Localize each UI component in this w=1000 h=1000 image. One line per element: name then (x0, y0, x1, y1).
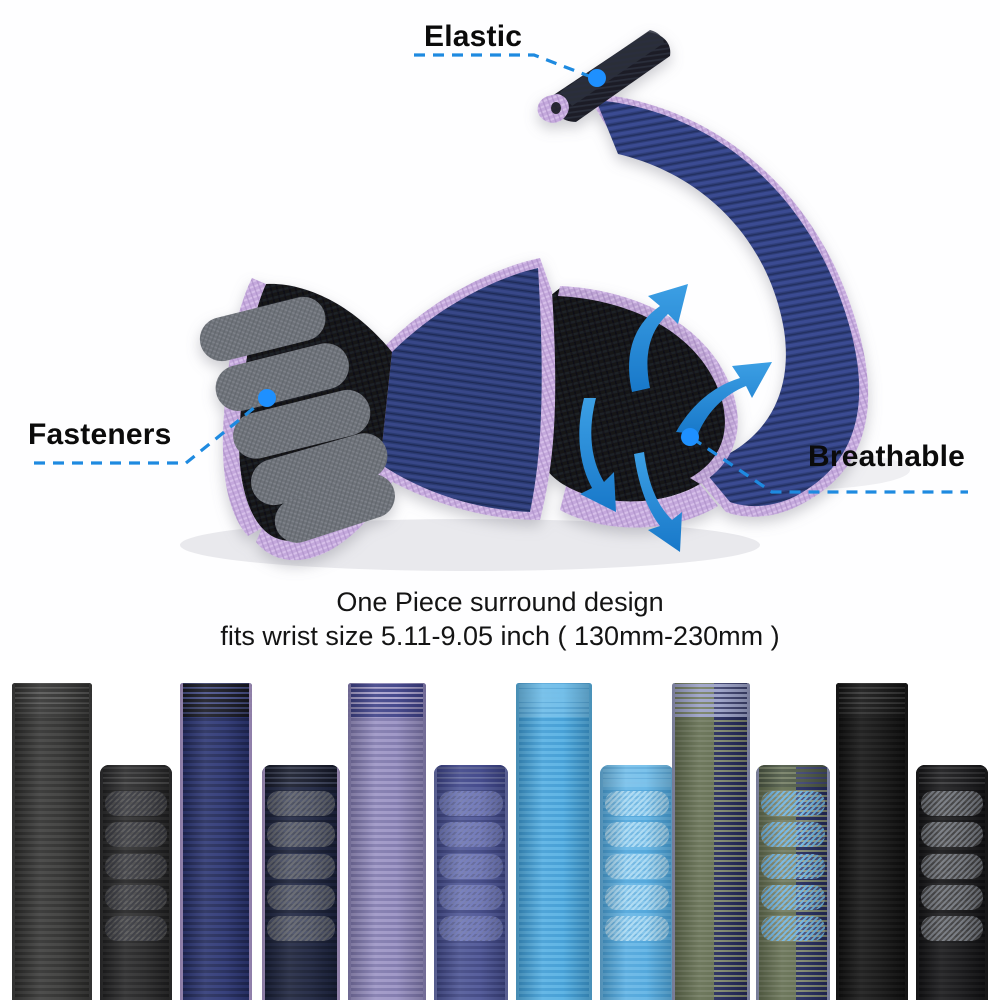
swatch-weave-texture (516, 683, 592, 1000)
swatch-fastener-pad (105, 885, 167, 910)
swatch-fastener-pad (761, 916, 825, 941)
swatch-edge-trim-right (589, 683, 592, 1000)
swatch-fastener-pad (605, 885, 669, 910)
swatch-edge-trim-left (348, 683, 351, 1000)
swatch-top-band (262, 765, 340, 787)
swatch-fastener-pads (262, 791, 340, 941)
swatch-fastener-pads (916, 791, 988, 941)
swatch-fastener-pad (761, 854, 825, 879)
swatch-edge-trim-left (836, 683, 839, 1000)
swatch-fastener-pad (267, 885, 334, 910)
swatch-edge-trim-left (12, 683, 15, 1000)
swatch-weave-texture (348, 683, 426, 1000)
swatch-fastener-pad (439, 854, 503, 879)
swatch-fastener-pad (921, 885, 983, 910)
swatch-edge-trim-right (747, 683, 750, 1000)
color-swatch-sky-blue-loop[interactable] (516, 683, 592, 1000)
swatch-top-band (916, 765, 988, 787)
color-swatch-lavender-heather-loop[interactable] (348, 683, 426, 1000)
swatch-fastener-pad (761, 885, 825, 910)
swatch-fastener-pad (761, 791, 825, 816)
swatch-fastener-pad (605, 854, 669, 879)
callout-label-elastic: Elastic (424, 20, 522, 54)
strap-illustration-svg (0, 0, 1000, 660)
callout-label-fasteners: Fasteners (28, 418, 172, 452)
color-swatch-lavender-heather-fastener[interactable] (434, 765, 508, 1000)
swatch-fastener-pad (267, 916, 334, 941)
color-swatch-black-loop[interactable] (836, 683, 908, 1000)
swatch-top-band (600, 765, 674, 787)
hero-illustration: Elastic Fasteners Breathable (0, 0, 1000, 660)
color-swatch-black-fastener[interactable] (916, 765, 988, 1000)
swatch-edge-trim-right (89, 683, 92, 1000)
watch-strap-body (195, 30, 868, 560)
callout-dot-icon (588, 69, 606, 87)
swatch-fastener-pads (600, 791, 674, 941)
swatch-second-tone (714, 683, 750, 1000)
swatch-fastener-pad (921, 916, 983, 941)
swatch-weave-texture (180, 683, 252, 1000)
color-swatch-olive-navy-fastener[interactable] (756, 765, 830, 1000)
swatch-top-band (434, 765, 508, 787)
swatch-weave-texture (12, 683, 92, 1000)
color-swatch-charcoal-grey-fastener[interactable] (100, 765, 172, 1000)
swatch-top-band (672, 683, 750, 717)
swatch-top-band (180, 683, 252, 717)
swatch-edge-trim-right (423, 683, 426, 1000)
swatch-top-band (756, 765, 830, 787)
swatch-edge-trim-right (249, 683, 252, 1000)
swatch-fastener-pad (921, 791, 983, 816)
product-caption: One Piece surround design fits wrist siz… (0, 585, 1000, 653)
callout-dot-icon (681, 428, 699, 446)
swatch-fastener-pad (267, 822, 334, 847)
swatch-fastener-pad (605, 791, 669, 816)
swatch-fastener-pad (105, 916, 167, 941)
swatch-weave-texture (672, 683, 750, 1000)
color-variant-strip (0, 660, 1000, 1000)
swatch-fastener-pad (761, 822, 825, 847)
swatch-fastener-pads (756, 791, 830, 941)
swatch-fastener-pad (439, 822, 503, 847)
swatch-edge-trim-left (516, 683, 519, 1000)
swatch-edge-trim-left (180, 683, 183, 1000)
leader-line-elastic (414, 55, 594, 78)
swatch-fastener-pad (921, 822, 983, 847)
swatch-fastener-pads (434, 791, 508, 941)
color-swatch-charcoal-grey-loop[interactable] (12, 683, 92, 1000)
swatch-fastener-pad (439, 885, 503, 910)
swatch-top-band (836, 683, 908, 717)
swatch-fastener-pad (439, 791, 503, 816)
swatch-top-band (100, 765, 172, 787)
swatch-fastener-pad (105, 822, 167, 847)
swatch-fastener-pad (105, 791, 167, 816)
swatch-fastener-pads (100, 791, 172, 941)
color-swatch-navy-blue-fastener[interactable] (262, 765, 340, 1000)
swatch-edge-trim-left (672, 683, 675, 1000)
strap-middle-panel-face (380, 268, 542, 512)
swatch-edge-trim-right (905, 683, 908, 1000)
strap-tip-hole (551, 102, 561, 114)
swatch-fastener-pad (605, 916, 669, 941)
caption-line-2: fits wrist size 5.11-9.05 inch ( 130mm-2… (0, 619, 1000, 653)
swatch-fastener-pad (921, 854, 983, 879)
swatch-fastener-pad (439, 916, 503, 941)
swatch-weave-texture (836, 683, 908, 1000)
swatch-fastener-pad (267, 854, 334, 879)
swatch-fastener-pad (105, 854, 167, 879)
swatch-fastener-pad (267, 791, 334, 816)
callout-label-breathable: Breathable (808, 440, 965, 474)
swatch-top-band (12, 683, 92, 717)
color-swatch-navy-blue-loop[interactable] (180, 683, 252, 1000)
swatch-fastener-pad (605, 822, 669, 847)
callout-dot-icon (258, 389, 276, 407)
color-swatch-sky-blue-fastener[interactable] (600, 765, 674, 1000)
caption-line-1: One Piece surround design (0, 585, 1000, 619)
product-infographic: Elastic Fasteners Breathable One Piece s… (0, 0, 1000, 1000)
color-swatch-olive-navy-loop[interactable] (672, 683, 750, 1000)
swatch-top-band (348, 683, 426, 717)
swatch-top-band (516, 683, 592, 717)
